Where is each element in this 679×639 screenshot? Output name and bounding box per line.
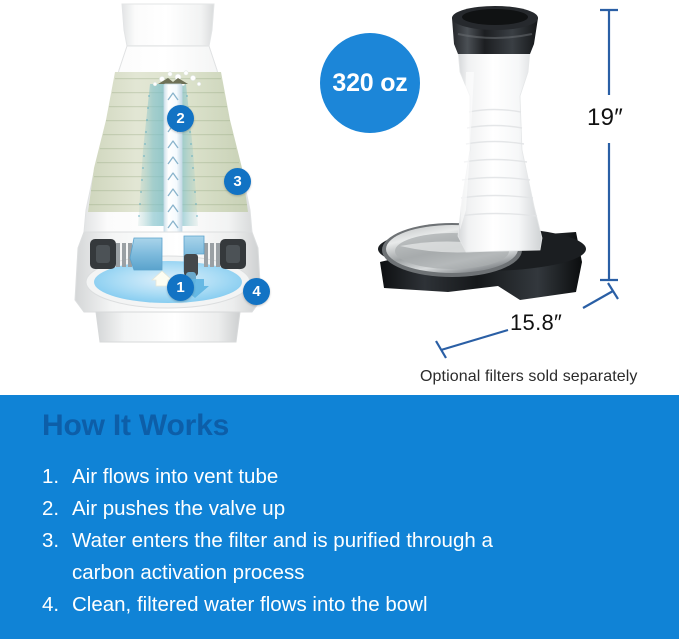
step-number: 2. (42, 493, 72, 525)
list-item: 1. Air flows into vent tube (42, 461, 642, 493)
step-text: Air pushes the valve up (72, 493, 532, 525)
how-it-works-panel: How It Works 1. Air flows into vent tube… (0, 395, 679, 639)
steps-list: 1. Air flows into vent tube 2. Air pushe… (42, 461, 642, 621)
product-illustration-area: 1 2 3 4 (0, 0, 679, 395)
width-dimension-label: 15.8″ (510, 310, 562, 336)
step-number: 3. (42, 525, 72, 557)
list-item: 3. Water enters the filter and is purifi… (42, 525, 642, 589)
filters-footnote: Optional filters sold separately (420, 368, 638, 386)
dimension-lines (0, 0, 679, 395)
step-text: Clean, filtered water flows into the bow… (72, 589, 532, 621)
list-item: 4. Clean, filtered water flows into the … (42, 589, 642, 621)
step-text: Air flows into vent tube (72, 461, 532, 493)
panel-title: How It Works (42, 409, 229, 443)
height-dimension-label: 19″ (587, 104, 623, 132)
step-text: Water enters the filter and is purified … (72, 525, 532, 589)
step-number: 1. (42, 461, 72, 493)
step-number: 4. (42, 589, 72, 621)
list-item: 2. Air pushes the valve up (42, 493, 642, 525)
